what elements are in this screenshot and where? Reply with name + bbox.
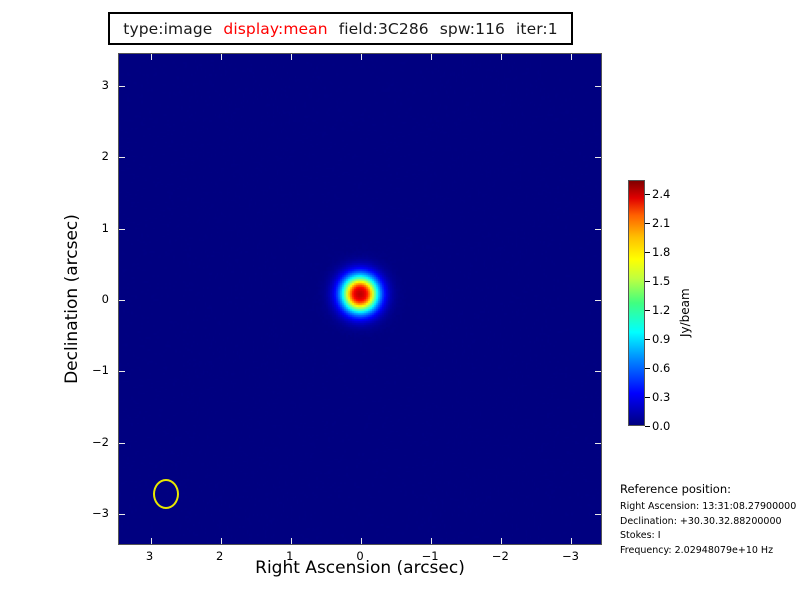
y-tick-label: 0 <box>83 292 109 306</box>
x-tick-mark <box>571 54 572 60</box>
reference-declination: Declination: +30.30.32.88200000 <box>620 515 800 530</box>
y-tick-mark <box>119 371 125 372</box>
colorbar-tick-mark <box>645 223 650 224</box>
y-tick-label: −1 <box>83 363 109 377</box>
x-tick-mark <box>361 54 362 60</box>
colorbar-tick-mark <box>645 252 650 253</box>
y-tick-mark <box>119 514 125 515</box>
x-tick-mark <box>151 538 152 544</box>
colorbar-tick-label: 1.2 <box>652 303 670 317</box>
header-token-iter: iter:1 <box>516 20 558 38</box>
colorbar-tick-mark <box>645 397 650 398</box>
colorbar[interactable] <box>628 180 645 426</box>
y-tick-mark <box>595 86 601 87</box>
colorbar-tick-label: 0.3 <box>652 390 670 404</box>
y-tick-mark <box>119 443 125 444</box>
sky-image-plot[interactable] <box>118 53 602 545</box>
y-tick-mark <box>119 157 125 158</box>
x-tick-mark <box>291 538 292 544</box>
colorbar-tick-mark <box>645 339 650 340</box>
reference-right-ascension: Right Ascension: 13:31:08.27900000 <box>620 500 800 515</box>
reference-stokes: Stokes: I <box>620 529 800 544</box>
y-tick-label: 1 <box>83 221 109 235</box>
y-axis-title: Declination (arcsec) <box>62 53 82 545</box>
header-token-spw: spw:116 <box>440 20 505 38</box>
y-tick-mark <box>595 300 601 301</box>
colorbar-unit-label: Jy/beam <box>678 288 692 337</box>
colorbar-tick-mark <box>645 281 650 282</box>
colorbar-tick-label: 0.0 <box>652 419 670 433</box>
colorbar-tick-label: 2.4 <box>652 187 670 201</box>
colorbar-tick-label: 2.1 <box>652 216 670 230</box>
x-tick-mark <box>571 538 572 544</box>
header-token-field: field:3C286 <box>339 20 429 38</box>
colorbar-tick-mark <box>645 426 650 427</box>
y-tick-mark <box>595 443 601 444</box>
y-tick-mark <box>595 229 601 230</box>
x-tick-mark <box>431 54 432 60</box>
colorbar-tick-label: 1.8 <box>652 245 670 259</box>
reference-position-panel: Reference position: Right Ascension: 13:… <box>620 482 800 559</box>
reference-frequency: Frequency: 2.02948079e+10 Hz <box>620 544 800 559</box>
x-tick-mark <box>151 54 152 60</box>
colorbar-tick-label: 0.9 <box>652 332 670 346</box>
y-tick-mark <box>595 371 601 372</box>
x-tick-mark <box>361 538 362 544</box>
x-tick-mark <box>221 538 222 544</box>
y-tick-mark <box>119 229 125 230</box>
x-tick-mark <box>431 538 432 544</box>
x-tick-mark <box>501 54 502 60</box>
image-header-box: type:image display:mean field:3C286 spw:… <box>108 12 573 45</box>
y-tick-mark <box>119 86 125 87</box>
radio-image-heatmap <box>119 54 601 544</box>
header-token-display: display:mean <box>223 20 327 38</box>
synthesized-beam-ellipse <box>153 479 179 509</box>
x-tick-mark <box>291 54 292 60</box>
y-tick-label: −2 <box>83 435 109 449</box>
colorbar-tick-label: 1.5 <box>652 274 670 288</box>
y-tick-label: 3 <box>83 78 109 92</box>
y-tick-mark <box>595 514 601 515</box>
y-tick-label: 2 <box>83 149 109 163</box>
y-tick-mark <box>119 300 125 301</box>
header-token-type: type:image <box>123 20 212 38</box>
x-axis-title: Right Ascension (arcsec) <box>118 558 602 578</box>
colorbar-tick-mark <box>645 368 650 369</box>
y-tick-mark <box>595 157 601 158</box>
y-tick-label: −3 <box>83 506 109 520</box>
x-tick-mark <box>221 54 222 60</box>
x-tick-mark <box>501 538 502 544</box>
reference-position-heading: Reference position: <box>620 482 800 496</box>
colorbar-tick-mark <box>645 310 650 311</box>
colorbar-tick-mark <box>645 194 650 195</box>
colorbar-tick-label: 0.6 <box>652 361 670 375</box>
